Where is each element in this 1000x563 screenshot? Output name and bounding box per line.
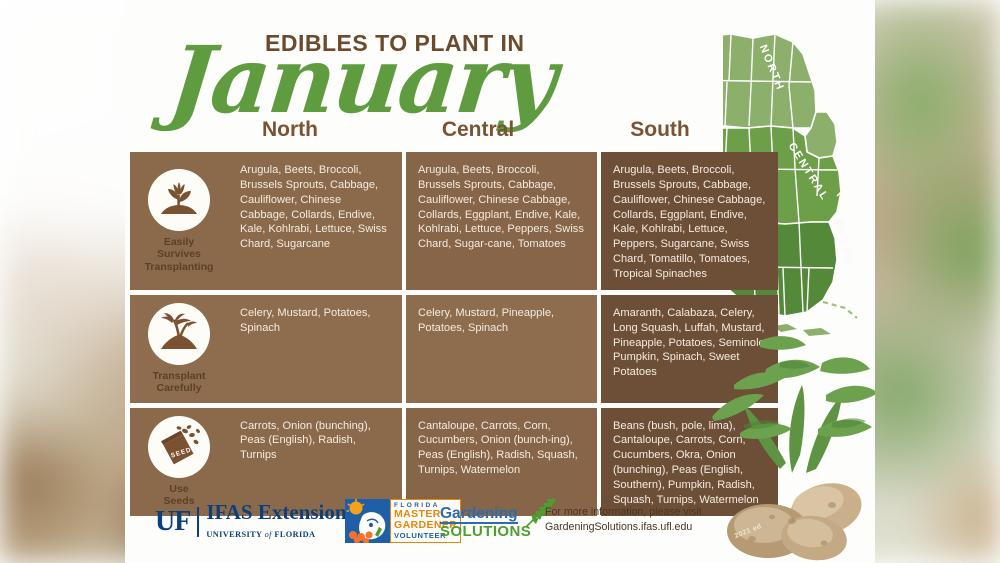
column-header-south: South <box>595 118 725 142</box>
more-info-line-2[interactable]: GardeningSolutions.ifas.ufl.edu <box>545 520 702 535</box>
infographic-card: NORTH CENTRAL SOUTH EDIBLES TO PLANT IN … <box>125 0 875 563</box>
uf-monogram: UF <box>155 506 190 538</box>
uf-divider <box>197 507 199 537</box>
column-header-central: Central <box>403 118 553 142</box>
uf-wordmark: IFAS Extension <box>206 500 346 524</box>
gs-line-gardening: Gardening <box>440 505 518 524</box>
row-left-group: Transplant Carefully Celery, Mustard, Po… <box>130 295 402 403</box>
planting-table: Easily Survives Transplanting Arugula, B… <box>130 152 778 498</box>
uf-subwordmark: UNIVERSITY of FLORIDA <box>206 530 315 539</box>
column-header-north: North <box>225 118 355 142</box>
page-title-month: January <box>165 34 559 126</box>
cell-central: Arugula, Beets, Broccoli, Brussels Sprou… <box>406 152 597 290</box>
cell-north: Arugula, Beets, Broccoli, Brussels Sprou… <box>228 152 401 290</box>
gardening-solutions-logo[interactable]: Gardening SOLUTIONS <box>440 505 531 541</box>
row-icon-cell: Easily Survives Transplanting <box>130 152 228 290</box>
row-left-group: Easily Survives Transplanting Arugula, B… <box>130 152 402 290</box>
table-row: Transplant Carefully Celery, Mustard, Po… <box>130 295 778 403</box>
seed-packet-icon: SEEDS <box>148 416 210 478</box>
uf-ifas-extension-logo[interactable]: UF IFAS Extension UNIVERSITY of FLORIDA <box>155 502 347 542</box>
cell-south: Arugula, Beets, Broccoli, Brussels Sprou… <box>601 152 778 290</box>
seedling-in-soil-icon <box>148 169 210 231</box>
cell-north: Celery, Mustard, Potatoes, Spinach <box>228 295 401 403</box>
footer: UF IFAS Extension UNIVERSITY of FLORIDA <box>135 497 865 549</box>
cell-central: Celery, Mustard, Pineapple, Potatoes, Sp… <box>406 295 597 403</box>
table-row: Easily Survives Transplanting Arugula, B… <box>130 152 778 290</box>
more-information-text: For more information, please visit Garde… <box>545 505 702 535</box>
row-icon-label: Easily Survives Transplanting <box>145 236 214 273</box>
more-info-line-1: For more information, please visit <box>545 505 702 520</box>
row-icon-cell: Transplant Carefully <box>130 295 228 403</box>
row-icon-label: Transplant Carefully <box>152 370 205 395</box>
master-gardener-illustration-icon <box>345 499 390 543</box>
uprooted-plant-icon <box>148 303 210 365</box>
